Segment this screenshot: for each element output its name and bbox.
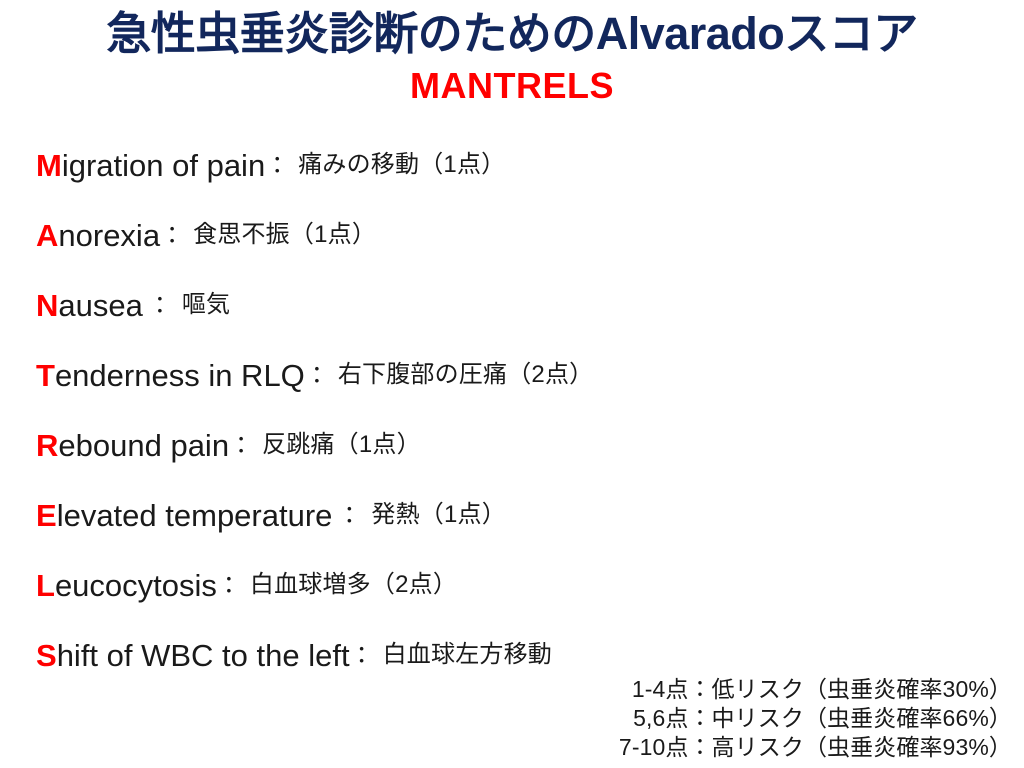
criterion-initial: E (36, 500, 57, 531)
criterion-separator: ： (305, 363, 338, 387)
criterion-separator: ： (217, 573, 250, 597)
criterion-gloss: 嘔気 (182, 293, 230, 317)
list-item: Nausea：嘔気 (36, 270, 1014, 340)
criterion-term: ausea (58, 290, 142, 321)
criterion-gloss: 食思不振（1点） (193, 223, 376, 247)
criterion-initial: A (36, 220, 58, 251)
risk-level-medium: 5,6点：中リスク（虫垂炎確率66%） (619, 704, 1012, 733)
criterion-initial: L (36, 570, 55, 601)
risk-level-low: 1-4点：低リスク（虫垂炎確率30%） (619, 675, 1012, 704)
criterion-separator: ： (332, 503, 371, 527)
criterion-gloss: 白血球増多（2点） (250, 573, 457, 597)
criterion-initial: S (36, 640, 57, 671)
criterion-initial: M (36, 150, 62, 181)
criterion-term: hift of WBC to the left (57, 640, 350, 671)
criterion-initial: R (36, 430, 58, 461)
criterion-gloss: 右下腹部の圧痛（2点） (338, 363, 594, 387)
criterion-gloss: 発熱（1点） (371, 503, 506, 527)
page-subtitle: MANTRELS (0, 62, 1024, 108)
criterion-term: enderness in RLQ (55, 360, 305, 391)
criterion-term: eucocytosis (55, 570, 217, 601)
risk-stratification-block: 1-4点：低リスク（虫垂炎確率30%） 5,6点：中リスク（虫垂炎確率66%） … (619, 675, 1012, 762)
list-item: Rebound pain：反跳痛（1点） (36, 410, 1014, 480)
criterion-initial: N (36, 290, 58, 321)
criteria-list: Migration of pain：痛みの移動（1点） Anorexia：食思不… (36, 130, 1014, 690)
criterion-term: igration of pain (62, 150, 265, 181)
slide-root: 急性虫垂炎診断のためのAlvaradoスコア MANTRELS Migratio… (0, 0, 1024, 768)
criterion-term: ebound pain (58, 430, 229, 461)
risk-level-high: 7-10点：高リスク（虫垂炎確率93%） (619, 733, 1012, 762)
page-title: 急性虫垂炎診断のためのAlvaradoスコア (0, 6, 1024, 62)
list-item: Tenderness in RLQ：右下腹部の圧痛（2点） (36, 340, 1014, 410)
criterion-term: levated temperature (57, 500, 333, 531)
criterion-separator: ： (160, 223, 193, 247)
criterion-gloss: 反跳痛（1点） (262, 433, 421, 457)
criterion-gloss: 痛みの移動（1点） (298, 153, 505, 177)
title-block: 急性虫垂炎診断のためのAlvaradoスコア MANTRELS (0, 0, 1024, 108)
list-item: Anorexia：食思不振（1点） (36, 200, 1014, 270)
list-item: Migration of pain：痛みの移動（1点） (36, 130, 1014, 200)
criterion-gloss: 白血球左方移動 (383, 643, 552, 667)
criterion-term: norexia (58, 220, 160, 251)
criterion-initial: T (36, 360, 55, 391)
list-item: Leucocytosis：白血球増多（2点） (36, 550, 1014, 620)
criterion-separator: ： (143, 293, 182, 317)
criterion-separator: ： (350, 643, 383, 667)
criterion-separator: ： (265, 153, 298, 177)
criterion-separator: ： (229, 433, 262, 457)
list-item: Elevated temperature：発熱（1点） (36, 480, 1014, 550)
